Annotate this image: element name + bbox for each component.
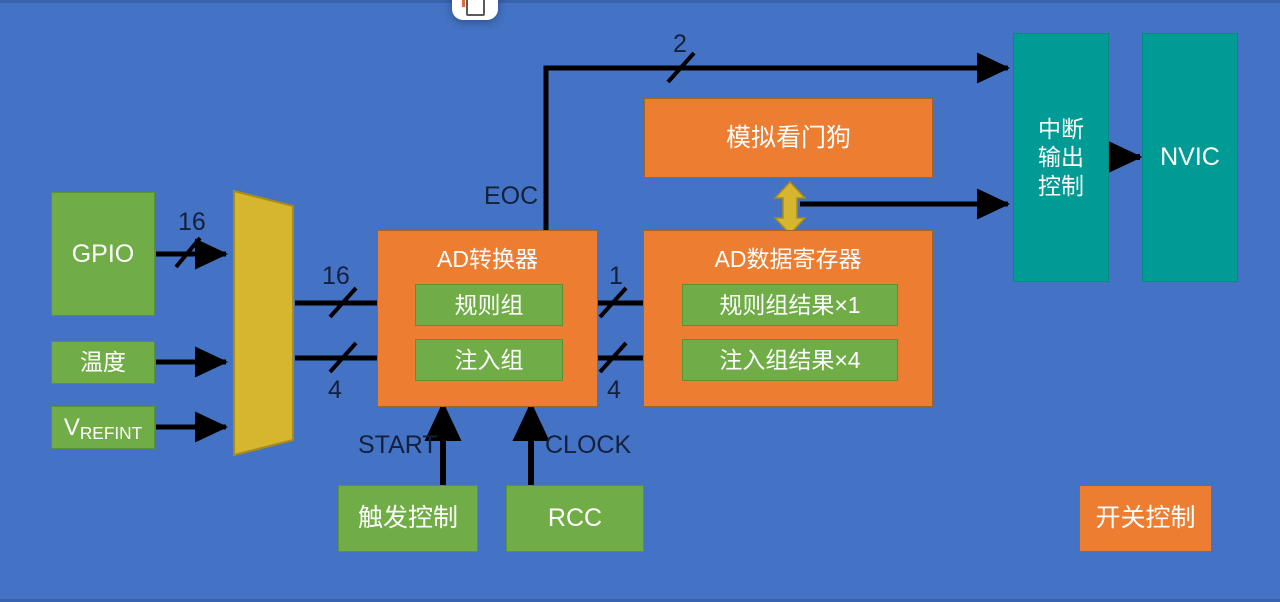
label-clock: CLOCK xyxy=(545,431,631,460)
node-injected-result[interactable]: 注入组结果×4 xyxy=(682,339,898,381)
node-gpio-label: GPIO xyxy=(72,239,135,270)
node-interrupt-line3: 控制 xyxy=(1038,172,1084,200)
node-ad-converter[interactable]: AD转换器 规则组 注入组 xyxy=(377,230,598,407)
node-switch-control-label: 开关控制 xyxy=(1095,503,1195,534)
node-temperature-label: 温度 xyxy=(80,348,126,376)
node-regular-result-label: 规则组结果×1 xyxy=(719,291,860,319)
label-injected-result-width: 4 xyxy=(607,376,621,405)
node-switch-control[interactable]: 开关控制 xyxy=(1079,485,1212,552)
node-vrefint-label: VREFINT xyxy=(64,413,142,442)
node-injected-result-label: 注入组结果×4 xyxy=(719,346,860,374)
label-eoc: EOC xyxy=(484,182,538,211)
node-analog-watchdog[interactable]: 模拟看门狗 xyxy=(644,98,933,178)
node-interrupt-output-control[interactable]: 中断 输出 控制 xyxy=(1013,33,1109,282)
floating-copy-button[interactable] xyxy=(452,0,498,20)
node-vrefint-subscript: REFINT xyxy=(80,423,142,443)
node-ad-converter-title: AD转换器 xyxy=(378,245,597,273)
node-injected-group[interactable]: 注入组 xyxy=(415,339,563,381)
node-vrefint[interactable]: VREFINT xyxy=(51,406,155,449)
copy-icon xyxy=(466,0,485,16)
node-analog-watchdog-label: 模拟看门狗 xyxy=(726,123,851,154)
node-trigger-control-label: 触发控制 xyxy=(358,503,458,534)
node-trigger-control[interactable]: 触发控制 xyxy=(338,485,478,552)
node-rcc-label: RCC xyxy=(548,503,602,534)
label-awd-width: 2 xyxy=(673,30,687,59)
label-regular-result-width: 1 xyxy=(609,262,623,291)
node-nvic-label: NVIC xyxy=(1160,142,1220,173)
node-interrupt-line1: 中断 xyxy=(1038,115,1084,143)
node-nvic[interactable]: NVIC xyxy=(1142,33,1238,282)
node-regular-result[interactable]: 规则组结果×1 xyxy=(682,284,898,326)
diagram-canvas: GPIO 温度 VREFINT AD转换器 规则组 注入组 AD数据寄存器 规则… xyxy=(0,0,1280,602)
node-rcc[interactable]: RCC xyxy=(506,485,644,552)
node-gpio[interactable]: GPIO xyxy=(51,192,155,316)
label-start: START xyxy=(358,431,438,460)
node-vrefint-main: V xyxy=(64,414,80,441)
label-gpio-width: 16 xyxy=(178,208,206,237)
node-data-register-title: AD数据寄存器 xyxy=(644,245,932,273)
node-injected-group-label: 注入组 xyxy=(455,346,524,374)
node-regular-group[interactable]: 规则组 xyxy=(415,284,563,326)
node-temperature[interactable]: 温度 xyxy=(51,341,155,384)
node-regular-group-label: 规则组 xyxy=(455,291,524,319)
node-data-register[interactable]: AD数据寄存器 规则组结果×1 注入组结果×4 xyxy=(643,230,933,407)
label-mux-regular-width: 16 xyxy=(322,262,350,291)
label-mux-injected-width: 4 xyxy=(328,376,342,405)
node-interrupt-line2: 输出 xyxy=(1038,143,1084,171)
